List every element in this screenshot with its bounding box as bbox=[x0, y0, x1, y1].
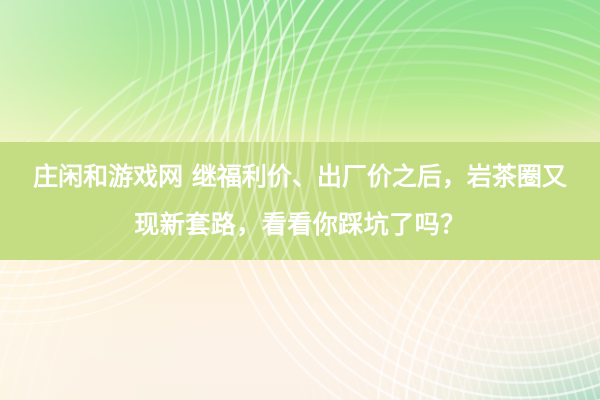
headline-line-2: 现新套路，看看你踩坑了吗？ bbox=[134, 201, 466, 249]
page-title: 庄闲和游戏网 继福利价、出厂价之后，岩茶圈又 现新套路，看看你踩坑了吗？ bbox=[0, 142, 600, 260]
decorative-banner: 庄闲和游戏网 继福利价、出厂价之后，岩茶圈又 现新套路，看看你踩坑了吗？ bbox=[0, 0, 600, 400]
headline-line-1: 庄闲和游戏网 继福利价、出厂价之后，岩茶圈又 bbox=[33, 153, 567, 201]
